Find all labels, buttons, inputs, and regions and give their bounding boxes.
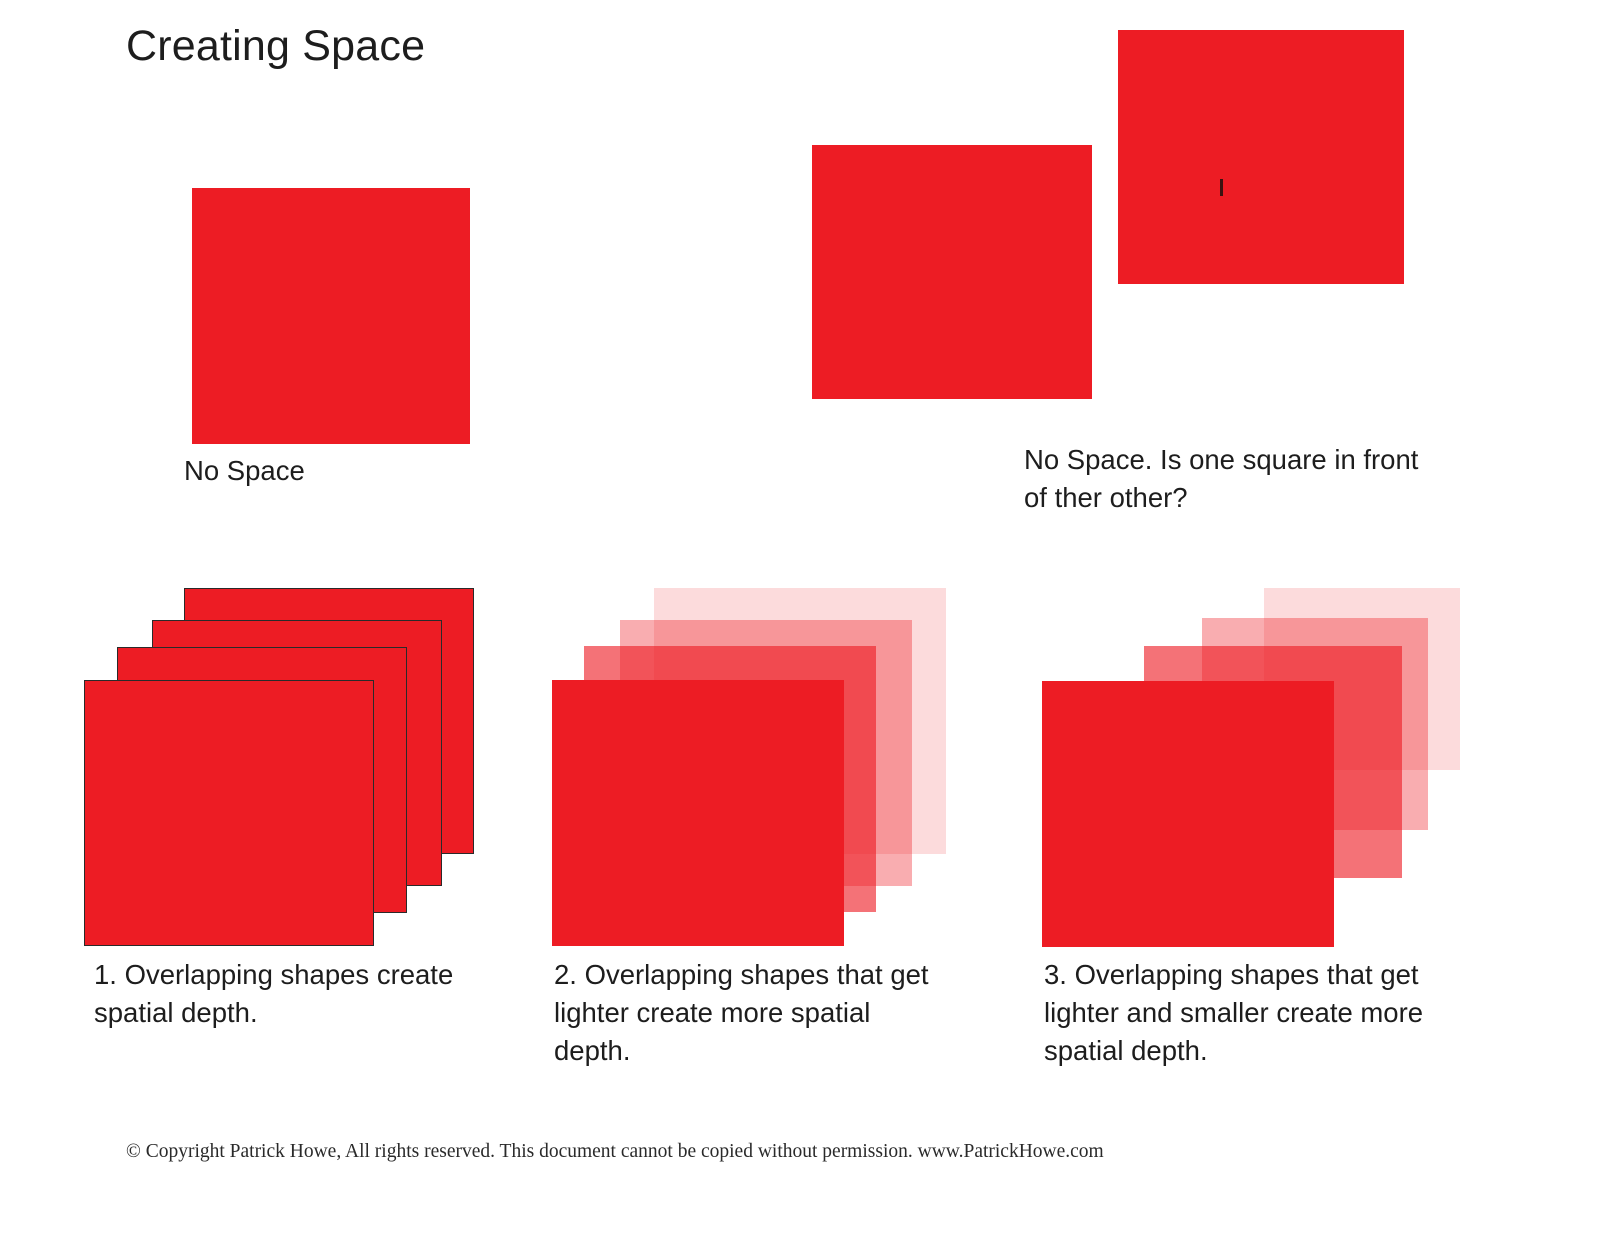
page-canvas: Creating Space No Space No Space. Is one… <box>0 0 1600 1237</box>
overlap-stack-2-caption: 2. Overlapping shapes that get lighter c… <box>554 956 944 1070</box>
overlap-stack-1 <box>84 588 524 948</box>
overlap-stack-3 <box>1042 588 1482 948</box>
overlap-stack-1-caption: 1. Overlapping shapes create spatial dep… <box>94 956 474 1032</box>
page-title: Creating Space <box>126 22 425 71</box>
overlap-stack-3-caption: 3. Overlapping shapes that get lighter a… <box>1044 956 1424 1070</box>
stack-3-layer-front <box>1042 681 1334 947</box>
text-cursor-artifact-icon <box>1220 179 1223 196</box>
stack-2-layer-front <box>552 680 844 946</box>
no-space-square <box>192 188 470 444</box>
no-space-pair-label: No Space. Is one square in front of ther… <box>1024 441 1444 517</box>
no-space-pair-back-square <box>1118 30 1404 284</box>
copyright-footer: © Copyright Patrick Howe, All rights res… <box>126 1141 1104 1163</box>
no-space-pair-front-square <box>812 145 1092 399</box>
no-space-label: No Space <box>184 452 504 490</box>
overlap-stack-2 <box>552 588 992 948</box>
stack-1-layer-front <box>84 680 374 946</box>
